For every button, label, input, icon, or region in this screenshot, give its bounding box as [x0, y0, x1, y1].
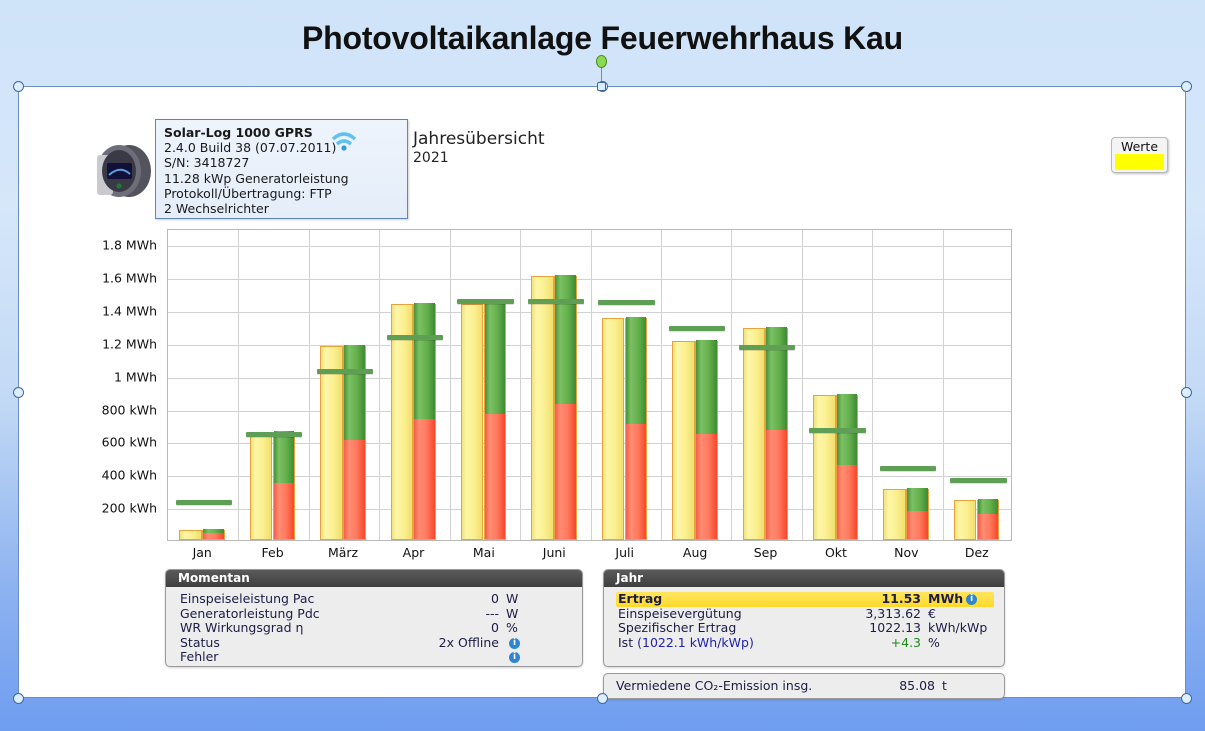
ist-label: Ist	[618, 636, 633, 651]
bar-segment-rest	[978, 499, 999, 515]
jahr-rows: Ertrag11.53MWhiEinspeisevergütung3,313.6…	[604, 587, 1004, 656]
bar-group[interactable]	[802, 230, 872, 540]
bar-segment-ist	[555, 404, 576, 539]
x-axis-label: März	[308, 545, 378, 560]
y-axis-tick: 1.2 MWh	[102, 336, 157, 351]
bar-werte[interactable]	[602, 318, 625, 541]
rotation-handle[interactable]	[596, 55, 607, 68]
jahr-panel: Jahr Ertrag11.53MWhiEinspeisevergütung3,…	[603, 569, 1005, 667]
device-info-box: Solar-Log 1000 GPRS 2.4.0 Build 38 (07.0…	[155, 119, 408, 219]
bar-segment-rest	[555, 275, 576, 404]
bar-group[interactable]	[450, 230, 520, 540]
y-axis: 200 kWh400 kWh600 kWh800 kWh1 MWh1.2 MWh…	[71, 223, 163, 541]
row-value: 3,313.62	[865, 607, 921, 622]
row-unit: W	[499, 607, 570, 622]
row-unit: %	[499, 621, 570, 636]
target-line-soll	[528, 299, 584, 304]
handle-bottom-left[interactable]	[13, 693, 24, 704]
momentan-panel: Momentan Einspeiseleistung Pac0WGenerato…	[165, 569, 583, 667]
x-axis-label: Juni	[519, 545, 589, 560]
bar-segment-ist	[766, 430, 787, 539]
device-inverters: 2 Wechselrichter	[164, 201, 399, 216]
row-label: Einspeisevergütung	[618, 607, 742, 622]
row-value: ---	[485, 607, 499, 622]
bar-group[interactable]	[872, 230, 942, 540]
x-axis-label: Okt	[801, 545, 871, 560]
target-line-soll	[669, 326, 725, 331]
panel-row: Status2x Offlinei	[178, 636, 572, 651]
co2-label: Vermiedene CO₂-Emission insg.	[616, 679, 812, 694]
row-unit: W	[499, 592, 570, 607]
target-line-soll	[739, 345, 795, 350]
device-firmware: 2.4.0 Build 38 (07.07.2011)	[164, 140, 399, 155]
y-axis-tick: 1.8 MWh	[102, 238, 157, 253]
panel-row: Einspeiseleistung Pac0W	[178, 592, 572, 607]
bar-segment-rest	[626, 317, 647, 425]
bar-segment-ist	[626, 424, 647, 539]
bar-stacked[interactable]	[202, 530, 225, 540]
target-line-soll	[176, 500, 232, 505]
bar-stacked[interactable]	[554, 276, 577, 540]
row-label: Spezifischer Ertrag	[618, 621, 736, 636]
device-name: Solar-Log 1000 GPRS	[164, 125, 399, 140]
target-line-soll	[809, 428, 865, 433]
handle-bottom-right[interactable]	[1181, 693, 1192, 704]
bar-segment-ist	[274, 483, 295, 539]
y-axis-tick: 1.6 MWh	[102, 271, 157, 286]
bar-group[interactable]	[238, 230, 308, 540]
handle-bottom-center[interactable]	[597, 693, 608, 704]
ist-unit: %	[921, 636, 992, 651]
bar-segment-ist	[837, 465, 858, 539]
row-unit: i	[499, 650, 570, 665]
bar-stacked[interactable]	[484, 304, 507, 540]
row-value: 2x Offline	[439, 636, 499, 651]
y-axis-tick: 1 MWh	[114, 369, 157, 384]
bar-group[interactable]	[520, 230, 590, 540]
bar-werte[interactable]	[320, 346, 343, 540]
info-icon[interactable]: i	[966, 594, 977, 605]
bar-segment-rest	[414, 303, 435, 419]
bar-stacked[interactable]	[906, 489, 929, 540]
bar-stacked[interactable]	[273, 432, 296, 540]
y-axis-tick: 600 kWh	[102, 435, 157, 450]
x-axis-label: Mai	[449, 545, 519, 560]
bar-werte[interactable]	[531, 276, 554, 540]
legend-swatch-werte	[1115, 154, 1164, 170]
handle-title-anchor[interactable]	[597, 82, 606, 91]
row-unit: €	[921, 607, 992, 622]
bar-stacked[interactable]	[765, 328, 788, 540]
device-protocol: Protokoll/Übertragung: FTP	[164, 186, 399, 201]
x-axis-label: Nov	[871, 545, 941, 560]
plot-area	[167, 229, 1012, 541]
info-icon[interactable]: i	[509, 638, 520, 649]
y-axis-tick: 200 kWh	[102, 501, 157, 516]
row-label: Generatorleistung Pdc	[180, 607, 320, 622]
legend-box: Werte	[1111, 137, 1168, 173]
year-bar-chart: 200 kWh400 kWh600 kWh800 kWh1 MWh1.2 MWh…	[71, 223, 1016, 563]
bar-segment-rest	[274, 431, 295, 483]
x-axis-label: Dez	[942, 545, 1012, 560]
row-label: Ertrag	[618, 592, 662, 607]
x-axis-label: Feb	[237, 545, 307, 560]
bar-stacked[interactable]	[836, 395, 859, 540]
co2-panel: Vermiedene CO₂-Emission insg. 85.08 t	[603, 673, 1005, 699]
handle-top-left[interactable]	[13, 81, 24, 92]
row-value: 1022.13	[869, 621, 921, 636]
bar-segment-rest	[485, 303, 506, 415]
bar-segment-rest	[344, 345, 365, 440]
handle-middle-left[interactable]	[13, 387, 24, 398]
panel-row: Spezifischer Ertrag1022.13kWh/kWp	[616, 621, 994, 636]
bar-werte[interactable]	[179, 530, 202, 540]
y-axis-tick: 400 kWh	[102, 468, 157, 483]
legend-label: Werte	[1115, 140, 1164, 153]
bar-werte[interactable]	[813, 395, 836, 540]
row-value: 0	[491, 592, 499, 607]
bar-werte[interactable]	[954, 500, 977, 540]
device-serial: S/N: 3418727	[164, 155, 399, 170]
row-label: WR Wirkungsgrad η	[180, 621, 303, 636]
co2-value: 85.08	[899, 679, 935, 694]
row-unit: i	[499, 636, 570, 651]
panel-row: Einspeisevergütung3,313.62€	[616, 607, 994, 622]
x-axis-label: Apr	[378, 545, 448, 560]
page-title: Photovoltaikanlage Feuerwehrhaus Kau	[0, 20, 1205, 57]
solar-log-device-icon	[89, 141, 161, 201]
wifi-icon	[331, 129, 357, 151]
row-label: Einspeiseleistung Pac	[180, 592, 314, 607]
target-line-soll	[387, 335, 443, 340]
co2-unit: t	[935, 679, 994, 694]
bar-segment-ist	[485, 414, 506, 539]
bar-werte[interactable]	[672, 341, 695, 540]
bar-segment-rest	[766, 327, 787, 430]
bar-werte[interactable]	[883, 489, 906, 540]
overview-heading: Jahresübersicht	[413, 129, 545, 149]
panel-row: WR Wirkungsgrad η0%	[178, 621, 572, 636]
y-axis-tick: 800 kWh	[102, 402, 157, 417]
bar-group[interactable]	[731, 230, 801, 540]
bar-group[interactable]	[943, 230, 1013, 540]
ist-percent: +4.3	[891, 636, 921, 651]
bar-segment-ist	[907, 511, 928, 539]
row-label: Fehler	[180, 650, 218, 665]
row-unit: kWh/kWp	[921, 621, 992, 636]
row-value: 11.53	[881, 592, 921, 607]
momentan-title: Momentan	[166, 570, 582, 587]
panel-row: Generatorleistung Pdc---W	[178, 607, 572, 622]
bar-stacked[interactable]	[343, 346, 366, 540]
bar-group[interactable]	[168, 230, 238, 540]
row-label: Status	[180, 636, 220, 651]
bar-segment-ist	[696, 434, 717, 539]
device-generator-power: 11.28 kWp Generatorleistung	[164, 171, 399, 186]
momentan-rows: Einspeiseleistung Pac0WGeneratorleistung…	[166, 587, 582, 667]
ist-reference: (1022.1 kWh/kWp)	[633, 636, 754, 651]
bar-segment-ist	[978, 514, 999, 539]
bar-stacked[interactable]	[625, 318, 648, 541]
bar-group[interactable]	[379, 230, 449, 540]
bar-group[interactable]	[309, 230, 379, 540]
jahr-ist-row: Ist(1022.1 kWh/kWp)+4.3%	[616, 636, 994, 651]
x-axis-label: Juli	[590, 545, 660, 560]
row-unit: MWhi	[921, 592, 992, 607]
bar-group[interactable]	[591, 230, 661, 540]
handle-middle-right[interactable]	[1181, 387, 1192, 398]
x-axis-label: Jan	[167, 545, 237, 560]
overview-year: 2021	[413, 150, 449, 166]
x-axis-label: Sep	[730, 545, 800, 560]
bar-group[interactable]	[661, 230, 731, 540]
target-line-soll	[880, 466, 936, 471]
bar-stacked[interactable]	[695, 341, 718, 540]
bar-werte[interactable]	[461, 304, 484, 540]
target-line-soll	[317, 369, 373, 374]
target-line-soll	[950, 478, 1006, 483]
bar-segment-ist	[344, 440, 365, 539]
panel-row: Ertrag11.53MWhi	[616, 592, 994, 607]
row-value: 0	[491, 621, 499, 636]
y-axis-tick: 1.4 MWh	[102, 304, 157, 319]
info-icon[interactable]: i	[509, 652, 520, 663]
target-line-soll	[246, 432, 302, 437]
bar-stacked[interactable]	[977, 500, 1000, 540]
target-line-soll	[457, 299, 513, 304]
jahr-title: Jahr	[604, 570, 1004, 587]
panel-row: Fehleri	[178, 650, 572, 665]
bar-segment-rest	[907, 488, 928, 511]
bar-segment-ist	[414, 419, 435, 539]
x-axis-label: Aug	[660, 545, 730, 560]
bar-segment-ist	[203, 533, 224, 539]
bar-werte[interactable]	[743, 328, 766, 540]
target-line-soll	[598, 300, 654, 305]
bar-werte[interactable]	[250, 432, 273, 540]
selected-object-frame[interactable]: Solar-Log 1000 GPRS 2.4.0 Build 38 (07.0…	[18, 86, 1186, 698]
bar-segment-rest	[696, 340, 717, 434]
handle-top-right[interactable]	[1181, 81, 1192, 92]
